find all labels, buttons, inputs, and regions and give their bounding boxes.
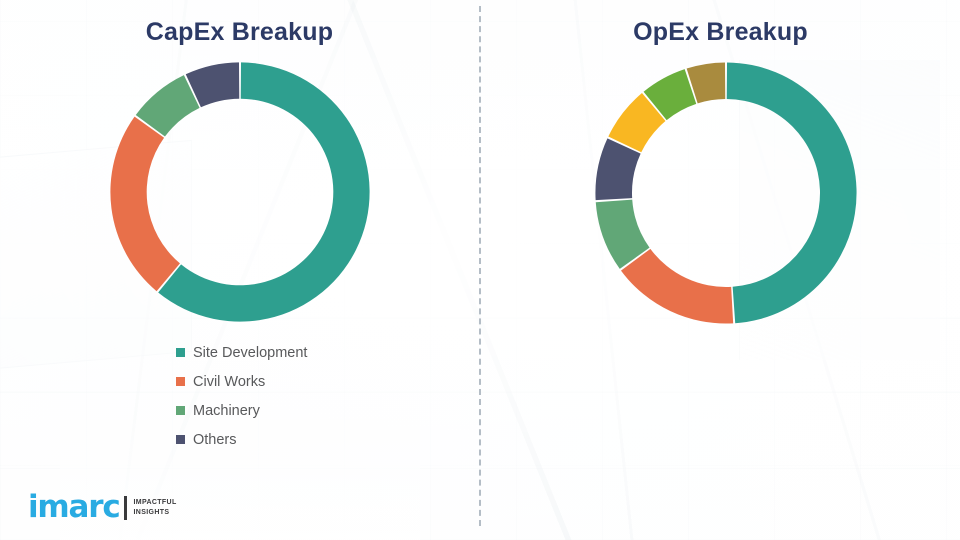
capex-legend-swatch-icon (176, 377, 185, 386)
capex-legend-swatch-icon (176, 435, 185, 444)
capex-legend-label: Civil Works (193, 374, 265, 390)
opex-chart-title: OpEx Breakup (481, 18, 960, 47)
capex-legend: Site DevelopmentCivil WorksMachineryOthe… (176, 338, 307, 454)
logo-wordmark: imarc (28, 492, 120, 523)
logo-tagline-line1: IMPACTFUL (134, 498, 177, 508)
slide-canvas: CapEx Breakup Site DevelopmentCivil Work… (0, 0, 960, 540)
capex-legend-item: Site Development (176, 338, 307, 367)
opex-panel: OpEx Breakup Raw MaterialsSalaries and W… (481, 0, 960, 540)
capex-legend-swatch-icon (176, 406, 185, 415)
capex-legend-label: Others (193, 432, 237, 448)
capex-legend-item: Civil Works (176, 367, 307, 396)
capex-panel: CapEx Breakup Site DevelopmentCivil Work… (0, 0, 479, 540)
capex-legend-item: Machinery (176, 396, 307, 425)
capex-legend-item: Others (176, 425, 307, 454)
capex-legend-label: Site Development (193, 345, 307, 361)
imarc-logo: imarc IMPACTFUL INSIGHTS (28, 492, 177, 523)
logo-tagline-line2: INSIGHTS (134, 508, 177, 518)
capex-legend-label: Machinery (193, 403, 260, 419)
capex-chart-title: CapEx Breakup (0, 18, 479, 47)
capex-donut-svg (105, 57, 375, 327)
capex-donut-segment (110, 117, 180, 292)
capex-donut-chart (105, 57, 375, 327)
opex-donut-segment (727, 62, 857, 323)
opex-donut-segment (621, 249, 733, 324)
capex-legend-swatch-icon (176, 348, 185, 357)
opex-donut-chart (590, 57, 862, 329)
logo-divider-bar (124, 496, 127, 520)
logo-tagline: IMPACTFUL INSIGHTS (134, 498, 177, 517)
opex-donut-svg (590, 57, 862, 329)
